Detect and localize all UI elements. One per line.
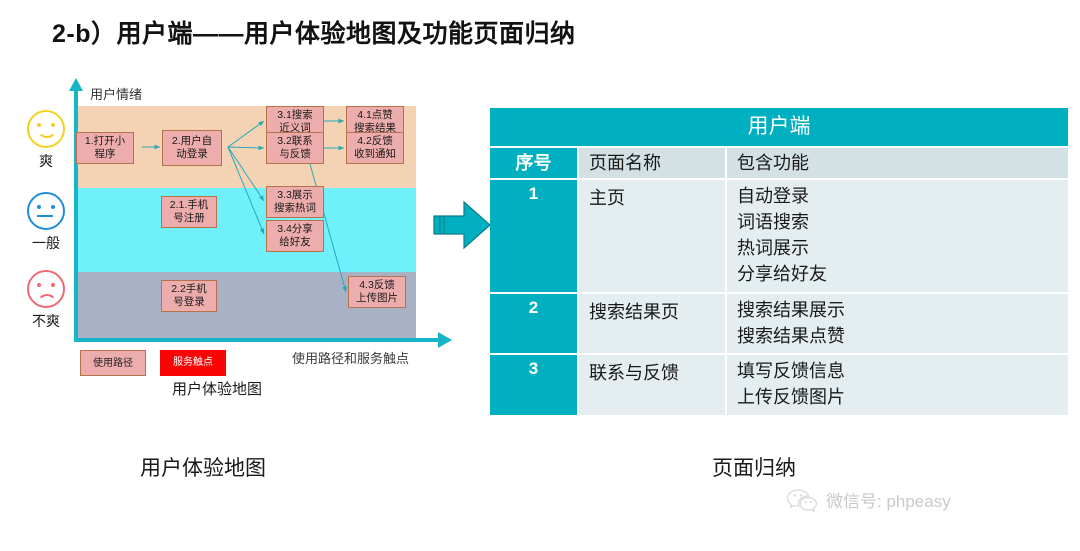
flow-node-3-4[interactable]: 3.4分享 给好友 [266,220,324,252]
mouth-smile [37,128,57,138]
watermark-text: 微信号: phpeasy [826,487,951,512]
smiley-neutral-icon [27,192,65,230]
row-features: 填写反馈信息 上传反馈图片 [726,354,1068,415]
row-features: 自动登录 词语搜索 热词展示 分享给好友 [726,179,1068,293]
feature-item: 上传反馈图片 [737,385,1068,411]
flow-node-2-1[interactable]: 2.1.手机 号注册 [161,196,217,228]
eye-left [37,123,41,127]
flow-node-3-3[interactable]: 3.3展示 搜索热词 [266,186,324,218]
column-header-no: 序号 [490,147,578,179]
column-header-features: 包含功能 [726,147,1068,179]
table-title: 用户端 [490,108,1068,147]
page-summary-table: 用户端 序号 页面名称 包含功能 1 主页 自动登录 词语搜索 热词展示 分享给… [490,108,1068,415]
eye-left [37,283,41,287]
feature-item: 搜索结果展示 [737,298,1068,324]
eye-left [37,205,41,209]
eye-right [51,283,55,287]
column-header-page: 页面名称 [578,147,726,179]
mood-label-happy: 爽 [20,151,72,171]
row-page: 主页 [578,179,726,293]
feature-item: 词语搜索 [737,210,1068,236]
mood-scale-neutral: 一般 [20,192,72,253]
row-features: 搜索结果展示 搜索结果点赞 [726,293,1068,355]
flow-node-4-2[interactable]: 4.2反馈 收到通知 [346,132,404,164]
eye-right [51,205,55,209]
y-axis-label: 用户情绪 [90,84,142,103]
transition-arrow-icon [432,196,492,254]
user-experience-map: 用户情绪 使用路径和服务触点 爽 一般 不爽 [14,84,474,394]
flow-node-1[interactable]: 1.打开小 程序 [76,132,134,164]
feature-item: 分享给好友 [737,262,1068,288]
row-page: 搜索结果页 [578,293,726,355]
mood-scale-happy: 爽 [20,110,72,171]
emotion-band-neutral [78,188,416,272]
legend-service-touch: 服务触点 [160,350,226,376]
watermark: 微信号: phpeasy [786,487,951,512]
table-header-row: 序号 页面名称 包含功能 [490,147,1068,179]
mood-label-sad: 不爽 [20,311,72,331]
right-section-caption: 页面归纳 [712,452,796,482]
flow-node-2[interactable]: 2.用户自 动登录 [162,130,222,166]
table-row[interactable]: 1 主页 自动登录 词语搜索 热词展示 分享给好友 [490,179,1068,293]
table-title-row: 用户端 [490,108,1068,147]
mood-label-neutral: 一般 [20,233,72,253]
wechat-icon [786,488,820,512]
feature-item: 搜索结果点赞 [737,324,1068,350]
mood-scale-sad: 不爽 [20,270,72,331]
left-section-caption: 用户体验地图 [140,452,266,482]
flow-node-4-3[interactable]: 4.3反馈 上传图片 [348,276,406,308]
x-axis-line [74,338,442,342]
map-inner-caption: 用户体验地图 [172,378,262,399]
row-no: 1 [490,179,578,293]
flow-node-2-2[interactable]: 2.2手机 号登录 [161,280,217,312]
mouth-flat [37,215,53,225]
row-no: 3 [490,354,578,415]
mouth-frown [37,294,57,304]
page-title: 2-b）用户端——用户体验地图及功能页面归纳 [52,14,576,50]
smiley-sad-icon [27,270,65,308]
smiley-happy-icon [27,110,65,148]
row-no: 2 [490,293,578,355]
x-axis-label: 使用路径和服务触点 [292,348,409,367]
feature-item: 自动登录 [737,184,1068,210]
feature-item: 热词展示 [737,236,1068,262]
table-row[interactable]: 3 联系与反馈 填写反馈信息 上传反馈图片 [490,354,1068,415]
table-row[interactable]: 2 搜索结果页 搜索结果展示 搜索结果点赞 [490,293,1068,355]
y-axis-line [74,90,78,342]
eye-right [51,123,55,127]
feature-item: 填写反馈信息 [737,359,1068,385]
x-axis-arrow-icon [438,332,452,348]
flow-node-3-2[interactable]: 3.2联系 与反馈 [266,132,324,164]
legend-usage-path: 使用路径 [80,350,146,376]
row-page: 联系与反馈 [578,354,726,415]
